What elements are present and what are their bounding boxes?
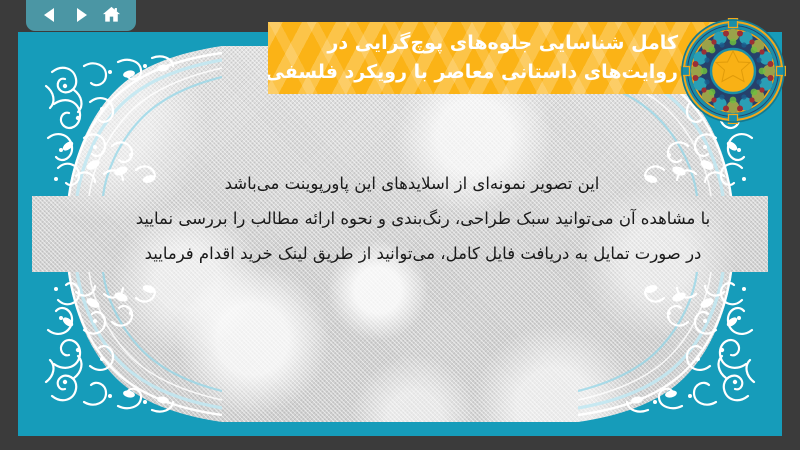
navigation-bar <box>26 0 136 31</box>
title-banner: کامل شناسایی جلوه‌های پوچ‌گرایی در روایت… <box>268 22 742 94</box>
persian-medallion-icon <box>680 18 786 124</box>
body-line-1: این تصویر نمونه‌ای از اسلایدهای این پاور… <box>78 166 768 201</box>
slide-body-text: این تصویر نمونه‌ای از اسلایدهای این پاور… <box>78 166 768 271</box>
body-line-2: با مشاهده آن می‌توانید سبک طراحی، رنگ‌بن… <box>78 201 768 236</box>
page-title-line-2: روایت‌های داستانی معاصر با رویکرد فلسفی <box>282 58 678 87</box>
body-line-3: در صورت تمایل به دریافت فایل کامل، می‌تو… <box>78 236 768 271</box>
forward-icon[interactable] <box>70 4 92 26</box>
page-title-line-1: کامل شناسایی جلوه‌های پوچ‌گرایی در <box>282 29 678 58</box>
slide-viewer: این تصویر نمونه‌ای از اسلایدهای این پاور… <box>0 0 800 450</box>
back-icon[interactable] <box>39 4 61 26</box>
home-icon[interactable] <box>101 4 123 26</box>
